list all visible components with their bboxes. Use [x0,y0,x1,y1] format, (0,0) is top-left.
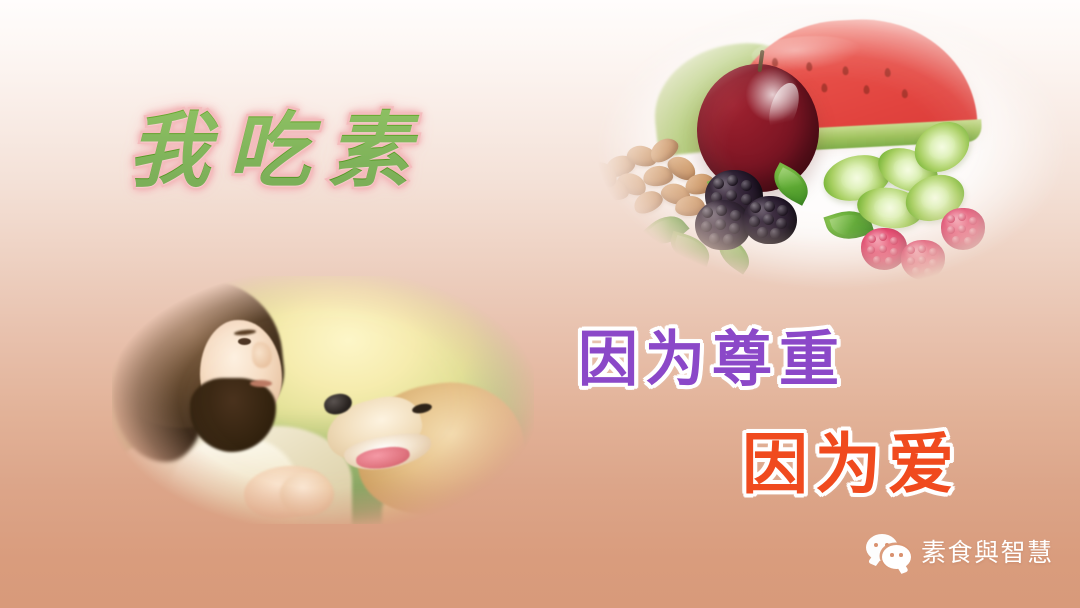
wechat-badge: 素食與智慧 [866,534,1054,570]
red-apple [697,64,819,192]
page-title: 我吃素 我吃素 [128,86,528,216]
poster-canvas: 我吃素 我吃素 因为尊重 因为爱 [0,0,1080,608]
watermelon-seed [863,85,869,94]
jesus-nose [252,342,272,368]
watermelon-seed [806,62,812,71]
jesus-mouth [250,380,272,387]
watermelon-seed [902,89,908,98]
watermelon-seed [821,83,827,92]
blackberry [743,196,797,244]
jesus-and-dog-painting [112,276,534,524]
jesus-eye [238,338,251,345]
wechat-account-name: 素食與智慧 [921,540,1054,565]
raspberry [901,240,945,280]
watermelon-seed [884,68,890,77]
apple-highlight [764,79,805,136]
slogan-love: 因为爱 [742,432,961,498]
jesus-hand-second [280,472,334,516]
vegetarian-food-photo [565,4,1080,296]
wechat-bubble-small [882,545,911,569]
slogan-respect: 因为尊重 [578,330,846,390]
raspberry [861,228,907,270]
page-title-text: 我吃素 [128,86,528,216]
wechat-icon [866,534,912,570]
raspberry [941,208,985,250]
watermelon-seed [842,66,848,75]
